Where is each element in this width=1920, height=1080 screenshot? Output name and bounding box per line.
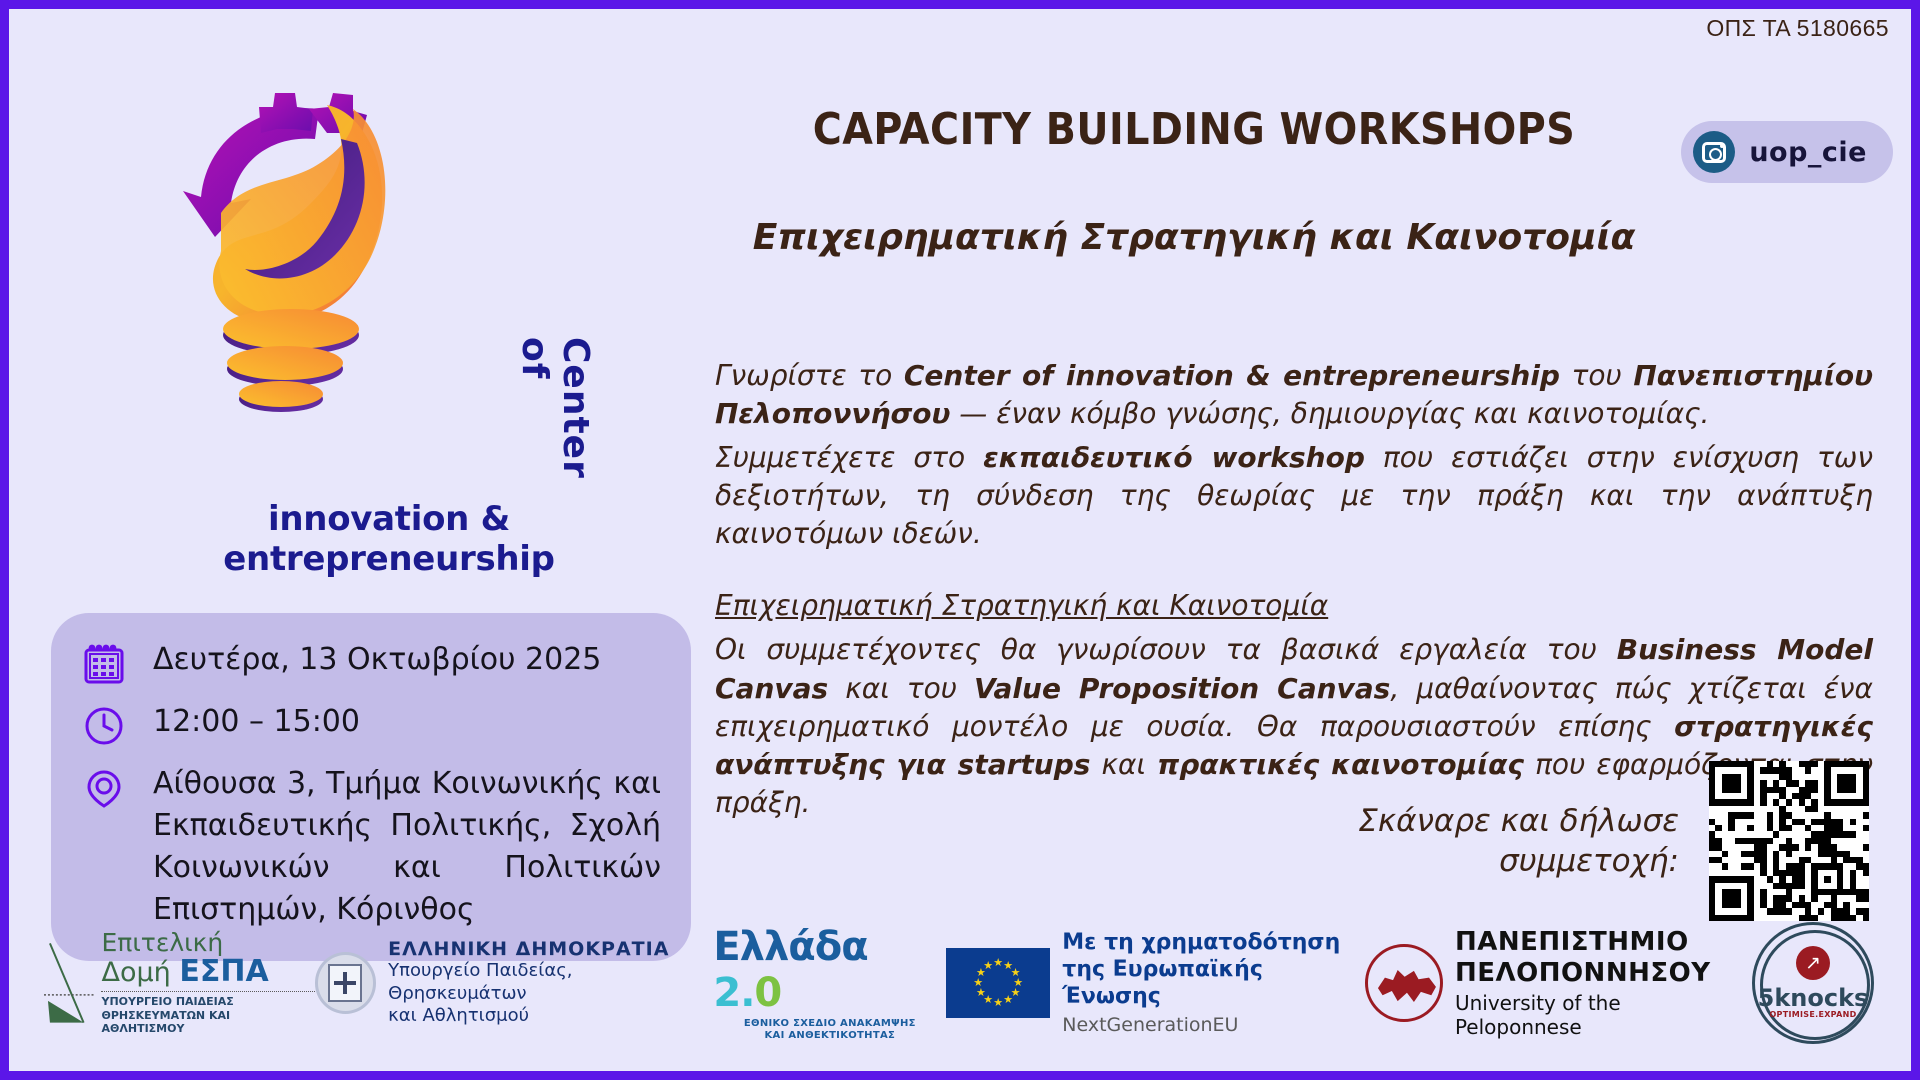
info-row-location: Αίθουσα 3, Τμήμα Κοινωνικής και Εκπαιδευ… (81, 763, 661, 931)
qr-block: Σκάναρε και δήλωσε συμμετοχή: (1358, 761, 1869, 921)
knocks-tagline: OPTIMISE.EXPAND (1750, 1010, 1876, 1019)
section-heading: Επιχειρηματική Στρατηγική και Καινοτομία (715, 587, 1873, 625)
event-info-card: Δευτέρα, 13 Οκτωβρίου 2025 12:00 – 15:00… (51, 613, 691, 961)
ellada-sub1: ΕΘΝΙΚΟ ΣΧΕΔΙΟ ΑΝΑΚΑΜΨΗΣ (713, 1018, 946, 1031)
espa-sub2: ΘΡΗΣΚΕΥΜΑΤΩΝ ΚΑΙ ΑΘΛΗΤΙΣΜΟΥ (101, 1009, 314, 1037)
knocks-name: 5knocks (1750, 984, 1876, 1012)
qr-code[interactable] (1709, 761, 1869, 921)
page-title: CAPACITY BUILDING WORKSHOPS (689, 104, 1699, 156)
logo-hellenic-republic: ΕΛΛΗΝΙΚΗ ΔΗΜΟΚΡΑΤΙΑ Υπουργείο Παιδείας, … (315, 938, 714, 1028)
event-date: Δευτέρα, 13 Οκτωβρίου 2025 (153, 639, 601, 681)
paragraph-workshop: Συμμετέχετε στο εκπαιδευτικό workshop πο… (715, 439, 1873, 553)
poster-canvas: ΟΠΣ ΤΑ 5180665 uop_cie (0, 0, 1920, 1080)
event-time: 12:00 – 15:00 (153, 701, 360, 743)
event-location: Αίθουσα 3, Τμήμα Κοινωνικής και Εκπαιδευ… (153, 763, 661, 931)
clock-icon (81, 703, 127, 749)
hellenic-title: ΕΛΛΗΝΙΚΗ ΔΗΜΟΚΡΑΤΙΑ (388, 938, 713, 960)
instagram-icon (1693, 131, 1735, 173)
espa-line2a: Δομή (101, 957, 179, 988)
eu-line1: Με τη χρηματοδότηση (1062, 930, 1365, 957)
uop-line1: ΠΑΝΕΠΙΣΤΗΜΙΟ (1455, 927, 1750, 958)
espa-line1: Επιτελική (101, 930, 314, 956)
ops-code: ΟΠΣ ΤΑ 5180665 (1706, 15, 1889, 42)
eu-flag-icon: ★★★★★★★★★★★★ (946, 948, 1050, 1018)
logo-espa: Επιτελική Δομή ΕΣΠΑ ΥΠΟΥΡΓΕΙΟ ΠΑΙΔΕΙΑΣ Θ… (44, 930, 315, 1036)
info-row-date: Δευτέρα, 13 Οκτωβρίου 2025 (81, 639, 661, 687)
info-row-time: 12:00 – 15:00 (81, 701, 661, 749)
ellada-zero: 0 (754, 970, 781, 1016)
uop-line3: University of the Peloponnese (1455, 991, 1750, 1039)
hellenic-line2: Υπουργείο Παιδείας, Θρησκευμάτων (388, 960, 713, 1005)
uop-seal-icon (1365, 944, 1443, 1022)
calendar-icon (81, 641, 127, 687)
eu-line2: της Ευρωπαϊκής Ένωσης (1062, 957, 1365, 1011)
qr-caption: Σκάναρε και δήλωσε συμμετοχή: (1358, 801, 1679, 882)
logo-5knocks: ↗ 5knocks OPTIMISE.EXPAND (1750, 920, 1876, 1046)
hellenic-emblem-icon (315, 952, 376, 1014)
logo-vertical-text: Center of (514, 337, 596, 497)
ellada-word: Ελλάδα (713, 924, 867, 970)
ellada-two: 2 (713, 970, 740, 1016)
logo-tagline: innovation & entrepreneurship (119, 499, 659, 579)
uop-line2: ΠΕΛΟΠΟΝΝΗΣΟΥ (1455, 958, 1750, 989)
espa-mark-icon (44, 937, 95, 1029)
espa-sub1: ΥΠΟΥΡΓΕΙΟ ΠΑΙΔΕΙΑΣ (101, 995, 314, 1009)
logo-european-union: ★★★★★★★★★★★★ Με τη χρηματοδότηση της Ευρ… (946, 930, 1365, 1035)
cie-logo: Center of innovation & entrepreneurship (119, 67, 659, 497)
expand-arrow-icon: ↗ (1796, 946, 1830, 980)
eu-line3: NextGenerationEU (1062, 1014, 1365, 1036)
body-copy: Γνωρίστε το Center of innovation & entre… (715, 357, 1873, 828)
espa-line2b: ΕΣΠΑ (179, 954, 268, 989)
map-pin-icon (81, 765, 127, 811)
paragraph-intro: Γνωρίστε το Center of innovation & entre… (715, 357, 1873, 433)
lightbulb-spiral-icon (159, 87, 509, 427)
ellada-dot: . (740, 970, 754, 1016)
instagram-badge[interactable]: uop_cie (1681, 121, 1893, 183)
logo-university-peloponnese: ΠΑΝΕΠΙΣΤΗΜΙΟ ΠΕΛΟΠΟΝΝΗΣΟΥ University of … (1365, 927, 1750, 1038)
logo-ellada-2-0: Ελλάδα 2.0 ΕΘΝΙΚΟ ΣΧΕΔΙΟ ΑΝΑΚΑΜΨΗΣ ΚΑΙ Α… (713, 924, 946, 1043)
hellenic-line3: και Αθλητισμού (388, 1005, 713, 1028)
instagram-handle: uop_cie (1749, 137, 1867, 168)
footer-logos: Επιτελική Δομή ΕΣΠΑ ΥΠΟΥΡΓΕΙΟ ΠΑΙΔΕΙΑΣ Θ… (18, 913, 1902, 1053)
page-subtitle: Επιχειρηματική Στρατηγική και Καινοτομία (689, 217, 1699, 258)
ellada-sub2: ΚΑΙ ΑΝΘΕΚΤΙΚΟΤΗΤΑΣ (713, 1030, 946, 1043)
